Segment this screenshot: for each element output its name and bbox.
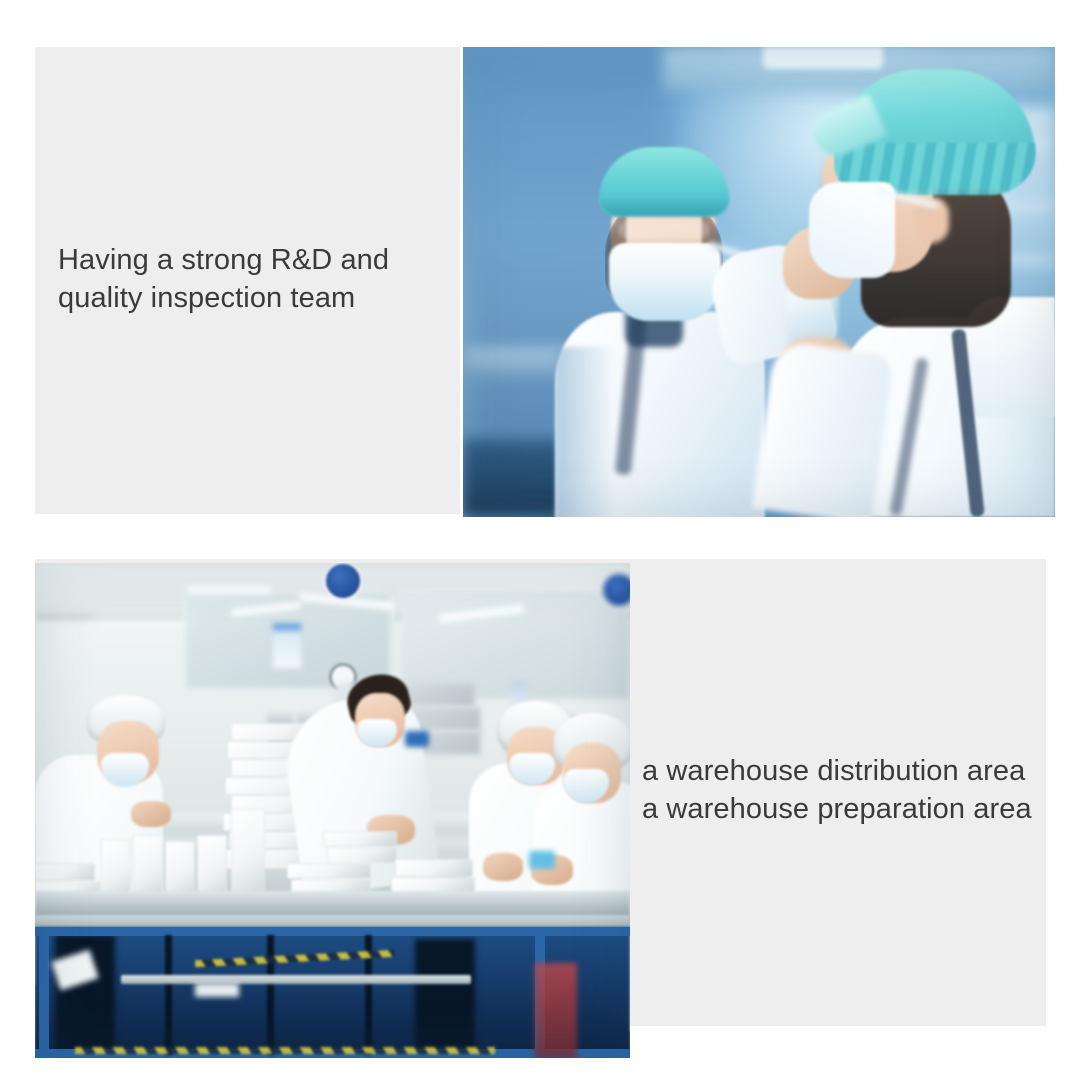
carton-flat (323, 831, 397, 847)
section-rnd-quality: Having a strong R&D and quality inspecti… (0, 0, 1080, 530)
wall-notice-sign (272, 623, 302, 669)
section-warehouse-areas: a warehouse distribution area a warehous… (0, 530, 1080, 1080)
carton-flat (35, 863, 95, 881)
carton-flat (287, 863, 371, 879)
technician-right-mask (809, 182, 895, 278)
marketing-capability-page: Having a strong R&D and quality inspecti… (0, 0, 1080, 1080)
ceiling-light-1 (187, 585, 271, 594)
carton-flat (327, 847, 397, 863)
red-bin (535, 963, 577, 1058)
caption-warehouse-areas: a warehouse distribution area a warehous… (642, 752, 1042, 828)
hazard-tape-2 (75, 1047, 495, 1054)
carton-flat (395, 859, 473, 877)
worker-right-1-hand (483, 853, 523, 881)
carton-tall (231, 809, 265, 903)
worker-far-left-hand (131, 801, 171, 827)
table-cross-1 (165, 935, 172, 1055)
lab-technicians-photo (463, 47, 1055, 517)
worker-center-badge (405, 731, 429, 747)
caption-rnd-quality: Having a strong R&D and quality inspecti… (58, 241, 458, 317)
lab-ceiling-light (763, 47, 883, 69)
ceiling-light-5 (95, 615, 185, 622)
floor-paper-2 (195, 983, 239, 997)
technician-right-arm (752, 339, 894, 517)
technician-left-goggles (618, 219, 710, 239)
technician-left-mask (609, 243, 721, 321)
blue-tool (529, 851, 555, 869)
technician-left-cap-band (599, 195, 729, 215)
table-steel-rail (121, 975, 471, 984)
table-shadow-right (415, 939, 475, 1057)
technician-left-coat-shadow (555, 347, 615, 517)
company-logo-emblem-right (600, 571, 630, 609)
cleanroom-packing-photo (35, 563, 630, 1058)
table-leg-left (39, 933, 49, 1058)
table-cross-2 (267, 935, 274, 1055)
